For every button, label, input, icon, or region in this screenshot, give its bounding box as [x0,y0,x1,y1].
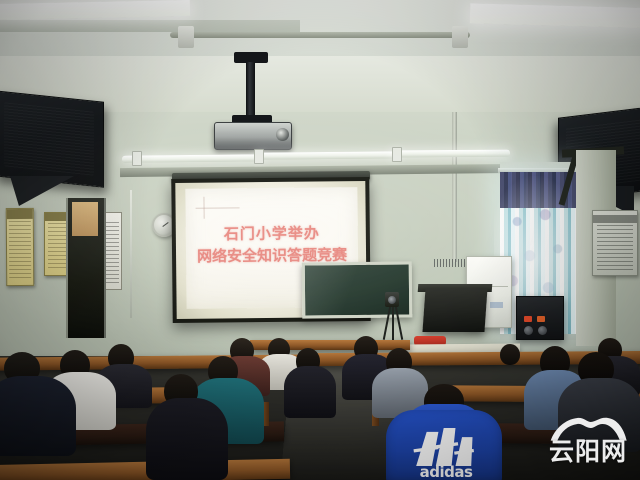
wall-speaker-left [0,90,104,188]
audience-torso [0,376,76,456]
tube-clip [254,149,264,164]
audio-amplifier[interactable] [516,296,564,340]
slide-title-line-1: 石门小学举办 [186,222,358,246]
slide-text-block: 石门小学举办 网络安全知识答题竞赛 [186,222,358,267]
tripod-camera [385,292,399,307]
amplifier-knob[interactable] [524,326,533,335]
cabinet-badge [490,302,503,308]
poster-header-band [7,209,33,219]
camera-lens-icon [388,296,396,304]
fluorescent-tube [258,151,398,159]
lectern [422,288,487,332]
amplifier-knob[interactable] [538,326,547,335]
watermark-text: 云阳网 [540,436,636,470]
poster-text-lines [9,221,31,280]
wall-pipe [452,112,457,262]
audience-torso [146,398,228,480]
clock-hands-icon [162,222,168,227]
doorway[interactable] [66,198,106,338]
audience-head [500,344,520,365]
projector-lens-icon [276,128,289,141]
amplifier-led-icon [524,316,532,322]
tripod-leg [392,306,394,340]
fluorescent-tube [122,154,262,162]
ceiling-beam [0,20,300,32]
tube-clip [132,151,142,166]
adidas-trefoil-icon [412,428,478,466]
fluorescent-tube [392,150,510,158]
wall-poster-1 [6,208,35,286]
projector-mount-pole [246,62,255,118]
doorway-light-panel [72,202,98,236]
plaque-title-band [593,215,637,223]
tube-clip [392,147,402,162]
classroom-photo: 石门小学举办 网络安全知识答题竞赛 [0,0,640,480]
slide-crosshair-icon [196,207,240,208]
plaque-text-lines [597,225,632,270]
watermark: 云阳网 [540,414,636,474]
ceiling-rail-clip [178,26,194,48]
amplifier-led-icon [537,316,545,322]
speaker-grille [4,102,95,175]
wall-plaque [592,210,638,276]
ceiling-rail-clip [452,26,468,48]
audience-torso [284,366,336,418]
screen-pull-cord[interactable] [130,190,132,318]
adidas-wordmark: adidas [410,464,482,480]
ceiling-rail [170,32,470,38]
